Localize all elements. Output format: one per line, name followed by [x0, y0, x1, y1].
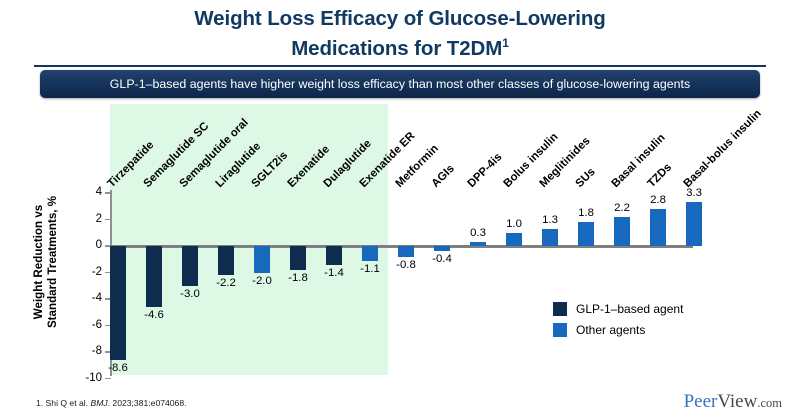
bar-dulaglutide[interactable] — [326, 246, 342, 265]
reference-footnote: 1. Shi Q et al. BMJ. 2023;381:e074068. — [36, 398, 187, 408]
bar-liraglutide[interactable] — [218, 246, 234, 275]
bar-sus[interactable] — [578, 222, 594, 246]
legend-item-other[interactable]: Other agents — [553, 323, 683, 337]
y-tick-label-text: -6 — [60, 319, 102, 331]
logo-peer: Peer — [684, 391, 718, 412]
legend-item-glp[interactable]: GLP-1–based agent — [553, 302, 683, 316]
bar-metformin[interactable] — [398, 246, 414, 257]
bar-exenatide-er[interactable] — [362, 246, 378, 261]
bar-basal-insulin[interactable] — [614, 217, 630, 246]
bar-semaglutide-oral[interactable] — [182, 246, 198, 286]
y-tick-mark — [105, 378, 111, 380]
key-message-text: GLP-1–based agents have higher weight lo… — [110, 77, 690, 91]
y-tick-label-text: -2 — [60, 266, 102, 278]
y-tick-label-text: 2 — [60, 213, 102, 225]
x-label-sus: SUs — [574, 166, 598, 190]
legend-item-label: GLP-1–based agent — [576, 302, 683, 316]
bar-tzds[interactable] — [650, 209, 666, 246]
footnote-journal: BMJ — [90, 398, 107, 408]
bar-meglitinides[interactable] — [542, 229, 558, 246]
y-tick-label-text: 0 — [60, 239, 102, 251]
bar-value-label: -0.4 — [420, 253, 464, 265]
y-tick-label-text: -8 — [60, 345, 102, 357]
legend-swatch-icon — [553, 302, 567, 316]
page-title-line2: Medications for T2DM — [291, 37, 502, 60]
footnote-suffix: . 2023;381:e074068. — [108, 398, 187, 408]
title-divider — [34, 65, 766, 67]
key-message-banner: GLP-1–based agents have higher weight lo… — [40, 70, 760, 98]
bar-semaglutide-sc[interactable] — [146, 246, 162, 307]
y-tick-mark — [105, 219, 111, 221]
x-label-tzds: TZDs — [646, 161, 675, 190]
bar-value-label: -8.6 — [96, 362, 140, 374]
y-tick-mark — [105, 192, 111, 194]
bar-dpp-4is[interactable] — [470, 242, 486, 246]
bar-agis[interactable] — [434, 246, 450, 251]
bar-sglt2is[interactable] — [254, 246, 270, 273]
logo-view: View — [717, 391, 757, 412]
logo-com: .com — [757, 396, 782, 410]
y-axis-title: Weight Reduction vsStandard Treatments, … — [32, 162, 60, 362]
x-label-dpp-4is: DPP-4is — [466, 151, 505, 190]
peerview-logo: PeerView.com — [684, 391, 782, 413]
bar-value-label: -4.6 — [132, 309, 176, 321]
y-tick-label-text: 4 — [60, 186, 102, 198]
legend-item-label: Other agents — [576, 323, 645, 337]
bar-value-label: -3.0 — [168, 288, 212, 300]
y-tick-label-text: -4 — [60, 292, 102, 304]
x-label-basal-bolus-insulin: Basal-bolus insulin — [682, 108, 764, 190]
page-title-line1: Weight Loss Efficacy of Glucose-Lowering — [194, 7, 605, 30]
bar-exenatide[interactable] — [290, 246, 306, 270]
bar-tirzepatide[interactable] — [110, 246, 126, 360]
bar-bolus-insulin[interactable] — [506, 233, 522, 246]
footnote-prefix: 1. Shi Q et al. — [36, 398, 90, 408]
bar-value-label: 3.3 — [672, 187, 716, 199]
legend-swatch-icon — [553, 323, 567, 337]
page-title: Weight Loss Efficacy of Glucose-Lowering… — [0, 6, 800, 61]
chart-legend: GLP-1–based agentOther agents — [553, 302, 683, 344]
bar-basal-bolus-insulin[interactable] — [686, 202, 702, 246]
x-label-agis: AGIs — [430, 163, 457, 190]
page-title-superscript: 1 — [502, 36, 509, 50]
